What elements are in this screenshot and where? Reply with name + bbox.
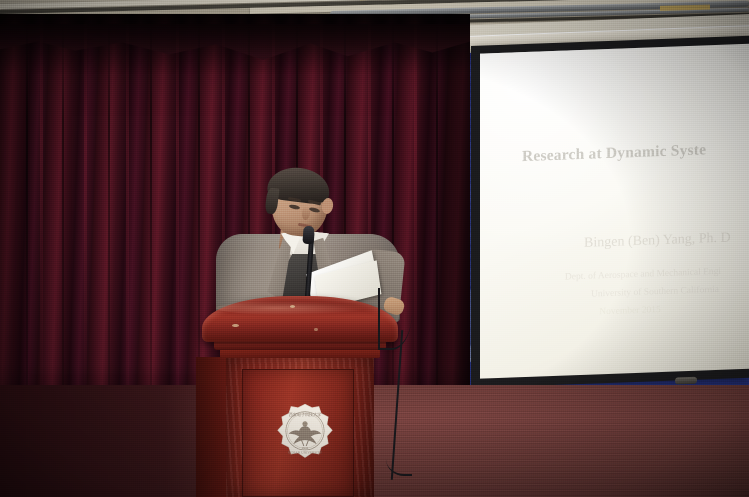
- svg-text:1931: 1931: [302, 446, 309, 450]
- slide-title: Research at Dynamic Syste: [522, 141, 706, 166]
- university-seal-emblem: 1931 XIDIAN UNIVERSITY 西安电子科技大学: [276, 403, 334, 461]
- slide-author: Bingen (Ben) Yang, Ph. D: [584, 230, 731, 251]
- speaker-ear: [321, 197, 335, 215]
- presentation-photo-scene: 西安电子科技大学 Research at Dynamic Syste Binge…: [0, 0, 749, 497]
- projection-screen: Research at Dynamic Syste Bingen (Ben) Y…: [471, 36, 749, 388]
- microphone-head: [302, 226, 314, 245]
- podium-top-surface: [202, 296, 398, 342]
- svg-text:西安电子科技大学: 西安电子科技大学: [289, 411, 321, 417]
- podium: 1931 XIDIAN UNIVERSITY 西安电子科技大学: [196, 296, 400, 497]
- slide-affiliation-2: University of Southern California: [530, 283, 749, 302]
- projection-screen-surface: Research at Dynamic Syste Bingen (Ben) Y…: [480, 44, 749, 379]
- podium-body: 1931 XIDIAN UNIVERSITY 西安电子科技大学: [226, 357, 374, 497]
- slide-date: November 2015: [520, 302, 740, 320]
- svg-text:XIDIAN UNIVERSITY: XIDIAN UNIVERSITY: [288, 450, 323, 454]
- slide-affiliation-1: Dept. of Aerospace and Mechanical Engi: [508, 265, 749, 285]
- podium-front-panel: 1931 XIDIAN UNIVERSITY 西安电子科技大学: [242, 369, 354, 497]
- screen-pull-knob: [675, 377, 697, 385]
